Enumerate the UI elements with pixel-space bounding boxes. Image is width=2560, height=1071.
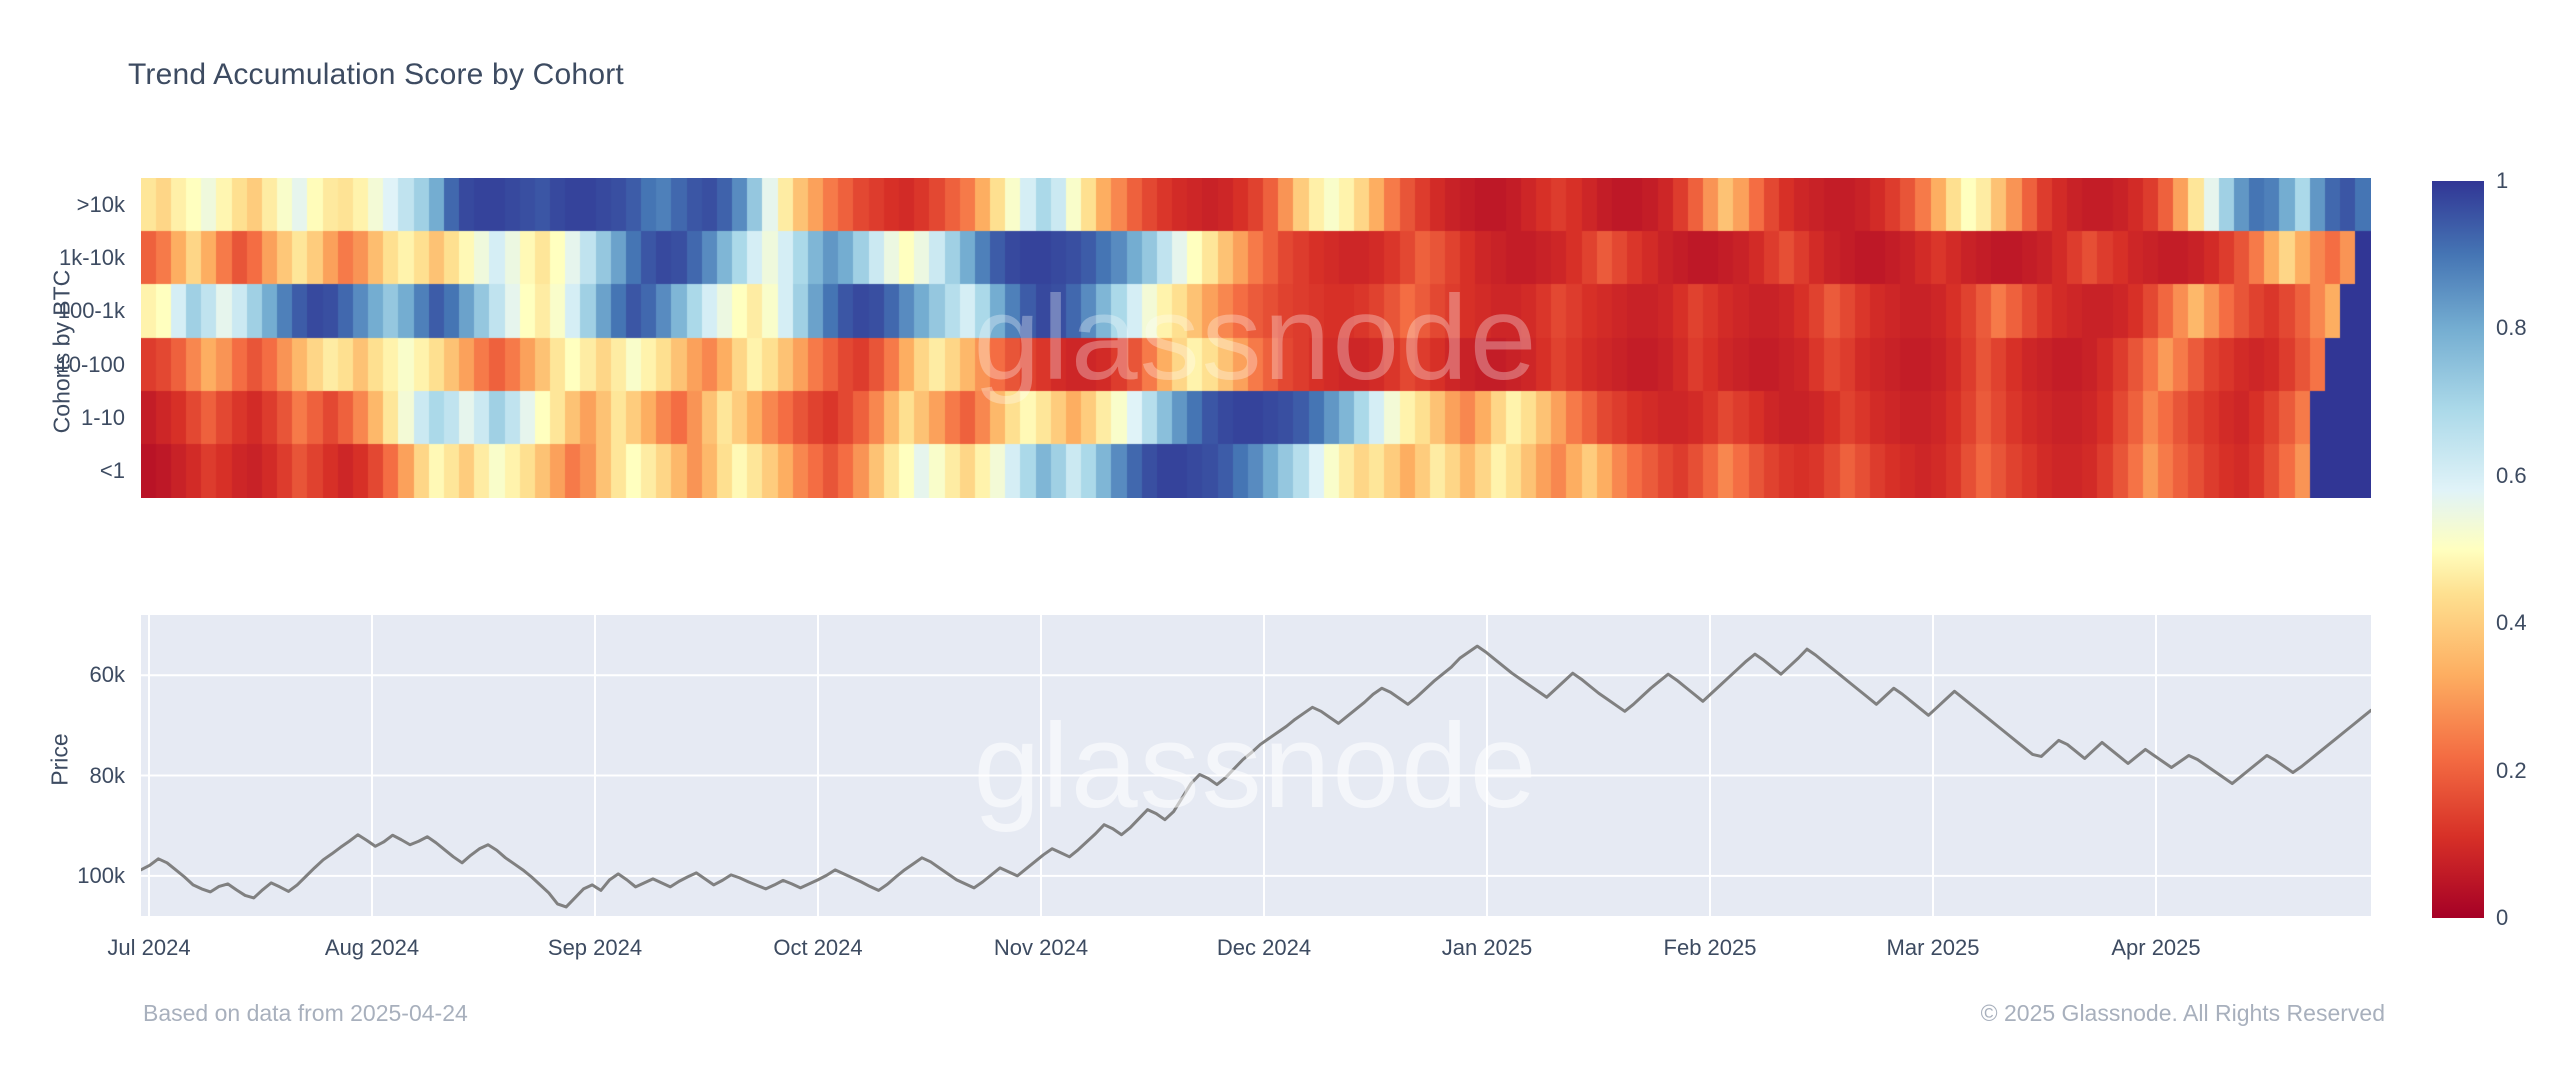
price-y-axis-title: Price [47, 690, 74, 830]
footer-data-source: Based on data from 2025-04-24 [143, 1000, 468, 1027]
colorbar-tick-0.8: 0.8 [2496, 315, 2527, 341]
footer-copyright: © 2025 Glassnode. All Rights Reserved [1981, 1000, 2385, 1027]
price-y-tick-80k: 80k [90, 763, 125, 789]
x-axis-tick-0: Jul 2024 [107, 935, 190, 961]
heatmap-row-label-4: 1-10 [81, 405, 125, 431]
colorbar-tick-0.4: 0.4 [2496, 610, 2527, 636]
price-line [141, 646, 2371, 907]
x-axis-tick-2: Sep 2024 [548, 935, 642, 961]
colorbar-tick-0.6: 0.6 [2496, 463, 2527, 489]
colorbar-tick-1: 1 [2496, 168, 2508, 194]
colorbar-gradient [2432, 181, 2484, 918]
heatmap-plot[interactable]: glassnode [141, 178, 2371, 498]
x-axis-tick-9: Apr 2025 [2111, 935, 2200, 961]
price-y-tick-60k: 60k [90, 662, 125, 688]
heatmap-canvas[interactable] [141, 178, 2371, 498]
heatmap-row-label-0: >10k [77, 192, 125, 218]
x-axis-tick-4: Nov 2024 [994, 935, 1088, 961]
page-title: Trend Accumulation Score by Cohort [128, 58, 624, 92]
price-plot[interactable]: glassnode [141, 615, 2371, 916]
x-axis-tick-7: Feb 2025 [1664, 935, 1757, 961]
heatmap-y-axis-title: Cohorts by BTC [49, 252, 76, 452]
x-axis-tick-6: Jan 2025 [1442, 935, 1533, 961]
colorbar-tick-0.2: 0.2 [2496, 758, 2527, 784]
x-axis-tick-1: Aug 2024 [325, 935, 419, 961]
colorbar-tick-0: 0 [2496, 905, 2508, 931]
price-line-svg [141, 615, 2371, 916]
x-axis-tick-5: Dec 2024 [1217, 935, 1311, 961]
x-axis-tick-8: Mar 2025 [1887, 935, 1980, 961]
x-axis-tick-3: Oct 2024 [773, 935, 862, 961]
price-y-tick-100k: 100k [77, 863, 125, 889]
heatmap-row-label-5: <1 [100, 458, 125, 484]
